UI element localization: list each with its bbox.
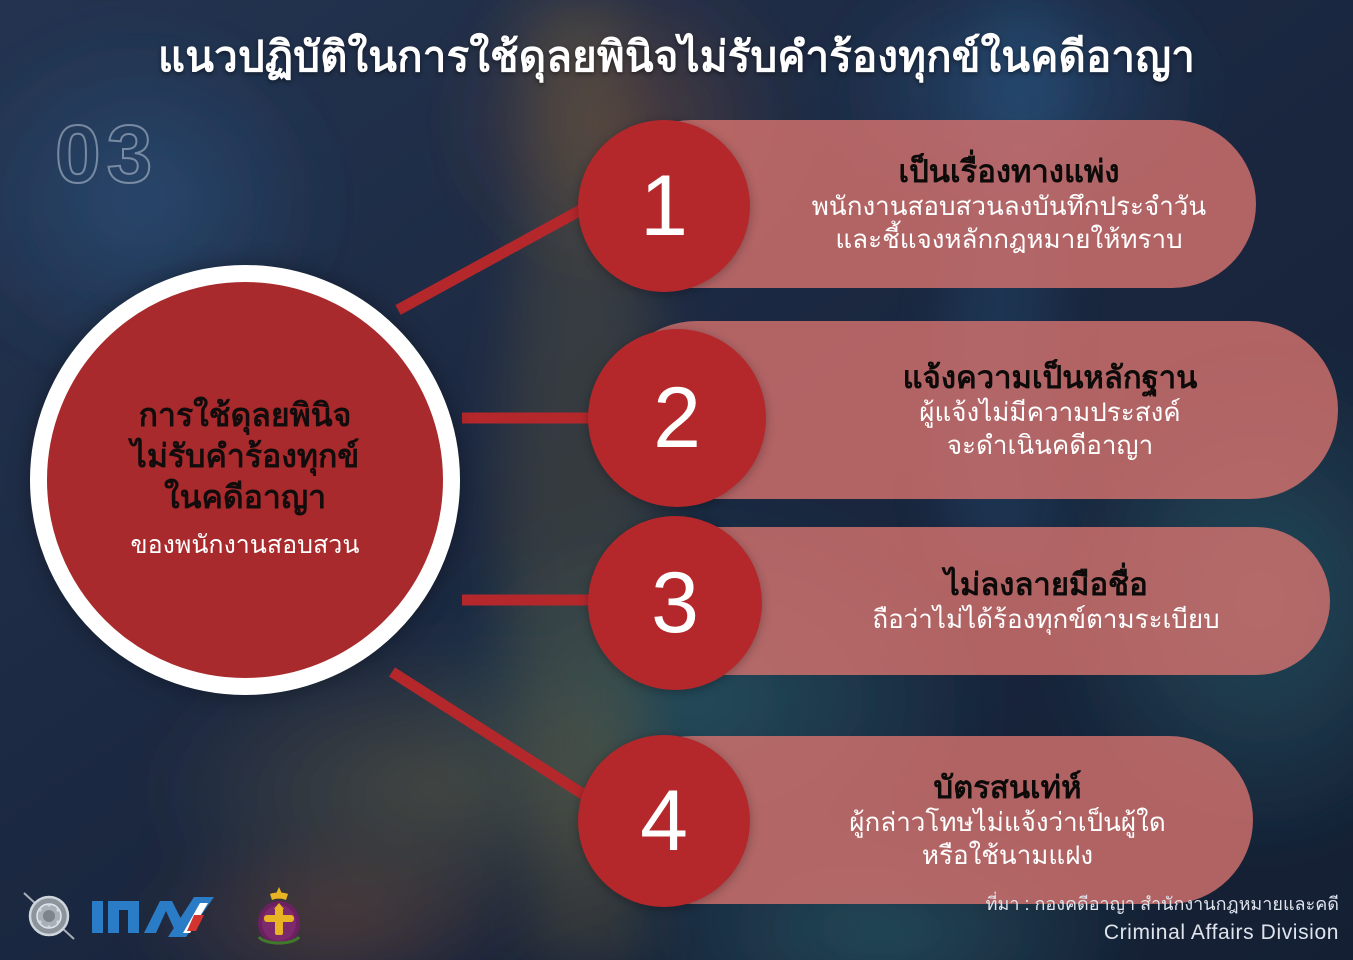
item-number-bubble-3[interactable]: 3 [588, 516, 762, 690]
credit-block: ที่มา : กองคดีอาญา สำนักงานกฎหมายและคดี … [986, 891, 1339, 948]
item-heading-4: บัตรสนเท่ห์ [933, 769, 1081, 806]
credit-source-en: Criminal Affairs Division [986, 918, 1339, 948]
item-number-2: 2 [653, 375, 701, 461]
hub-line-3: ในคดีอาญา [164, 477, 326, 518]
item-number-1: 1 [640, 163, 688, 249]
hub-subtitle: ของพนักงานสอบสวน [131, 525, 360, 565]
hub-line-2: ไม่รับคำร้องทุกข์ [131, 436, 359, 477]
item-body-1-line-1: พนักงานสอบสวนลงบันทึกประจำวัน [812, 190, 1206, 223]
item-body-4-line-1: ผู้กล่าวโทษไม่แจ้งว่าเป็นผู้ใด [849, 806, 1165, 839]
item-heading-3: ไม่ลงลายมือชื่อ [944, 566, 1147, 603]
item-heading-1: เป็นเรื่องทางแพ่ง [899, 153, 1120, 190]
item-number-4: 4 [640, 778, 688, 864]
item-body-2-line-1: ผู้แจ้งไม่มีความประสงค์ [919, 396, 1180, 429]
central-hub: การใช้ดุลยพินิจ ไม่รับคำร้องทุกข์ ในคดีอ… [30, 265, 460, 695]
section-number: 03 [55, 108, 158, 202]
page-title: แนวปฏิบัติในการใช้ดุลยพินิจไม่รับคำร้องท… [0, 24, 1353, 90]
police-emblem-icon [18, 885, 80, 947]
item-number-bubble-2[interactable]: 2 [588, 329, 766, 507]
item-number-bubble-1[interactable]: 1 [578, 120, 750, 292]
item-body-3-line-1: ถือว่าไม่ได้ร้องทุกข์ตามระเบียบ [872, 603, 1219, 636]
item-body-1-line-2: และชี้แจงหลักกฎหมายให้ทราบ [835, 223, 1182, 256]
hub-line-1: การใช้ดุลยพินิจ [139, 395, 352, 436]
ita-logo [90, 893, 240, 939]
item-number-bubble-4[interactable]: 4 [578, 735, 750, 907]
item-number-3: 3 [651, 560, 699, 646]
item-heading-2: แจ้งความเป็นหลักฐาน [903, 359, 1198, 396]
logo-strip [18, 882, 308, 950]
credit-source-th: ที่มา : กองคดีอาญา สำนักงานกฎหมายและคดี [986, 891, 1339, 918]
item-body-4-line-2: หรือใช้นามแฝง [922, 839, 1093, 872]
royal-crest-icon [250, 885, 308, 947]
item-body-2-line-2: จะดำเนินคดีอาญา [947, 429, 1153, 462]
